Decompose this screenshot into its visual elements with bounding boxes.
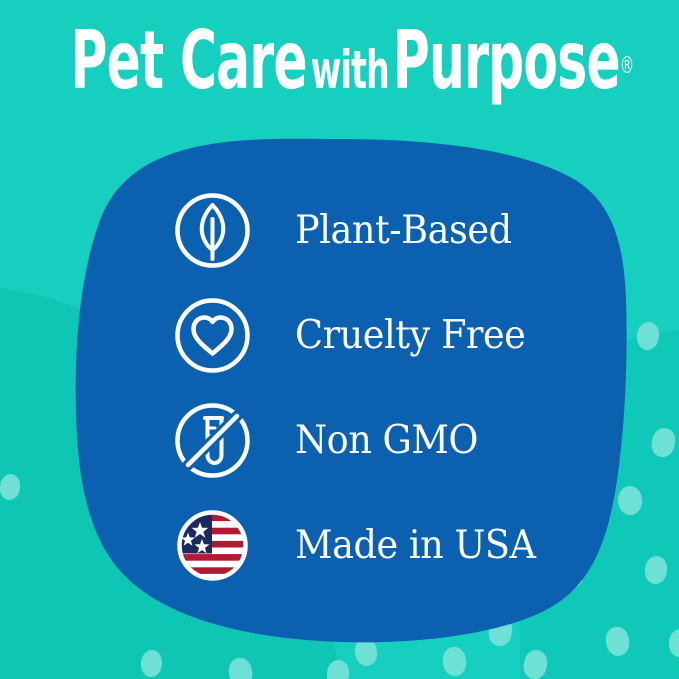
- content-layer: Pet CarewithPurpose® Plant-Based: [0, 0, 679, 679]
- headline-connector: with: [307, 39, 393, 101]
- feature-row-plant-based: Plant-Based: [171, 178, 591, 283]
- feature-label-plant-based: Plant-Based: [295, 209, 512, 253]
- feature-row-cruelty-free: Cruelty Free: [171, 283, 591, 388]
- no-gmo-icon: [171, 399, 254, 482]
- feature-label-non-gmo: Non GMO: [295, 419, 478, 463]
- heart-icon: [171, 294, 254, 377]
- headline-part2: Purpose: [393, 11, 620, 109]
- feature-list: Plant-Based Cruelty Free: [171, 178, 591, 598]
- feature-row-made-in-usa: Made in USA: [171, 493, 591, 598]
- usa-flag-icon: [171, 504, 254, 587]
- page-headline: Pet CarewithPurpose®: [0, 18, 679, 112]
- poster-canvas: Pet CarewithPurpose® Plant-Based: [0, 0, 679, 679]
- leaf-icon: [171, 189, 254, 272]
- headline-part1: Pet Care: [70, 11, 306, 109]
- feature-label-cruelty-free: Cruelty Free: [295, 314, 525, 358]
- feature-row-non-gmo: Non GMO: [171, 388, 591, 493]
- registered-trademark-icon: ®: [620, 51, 634, 78]
- feature-label-made-in-usa: Made in USA: [295, 524, 536, 568]
